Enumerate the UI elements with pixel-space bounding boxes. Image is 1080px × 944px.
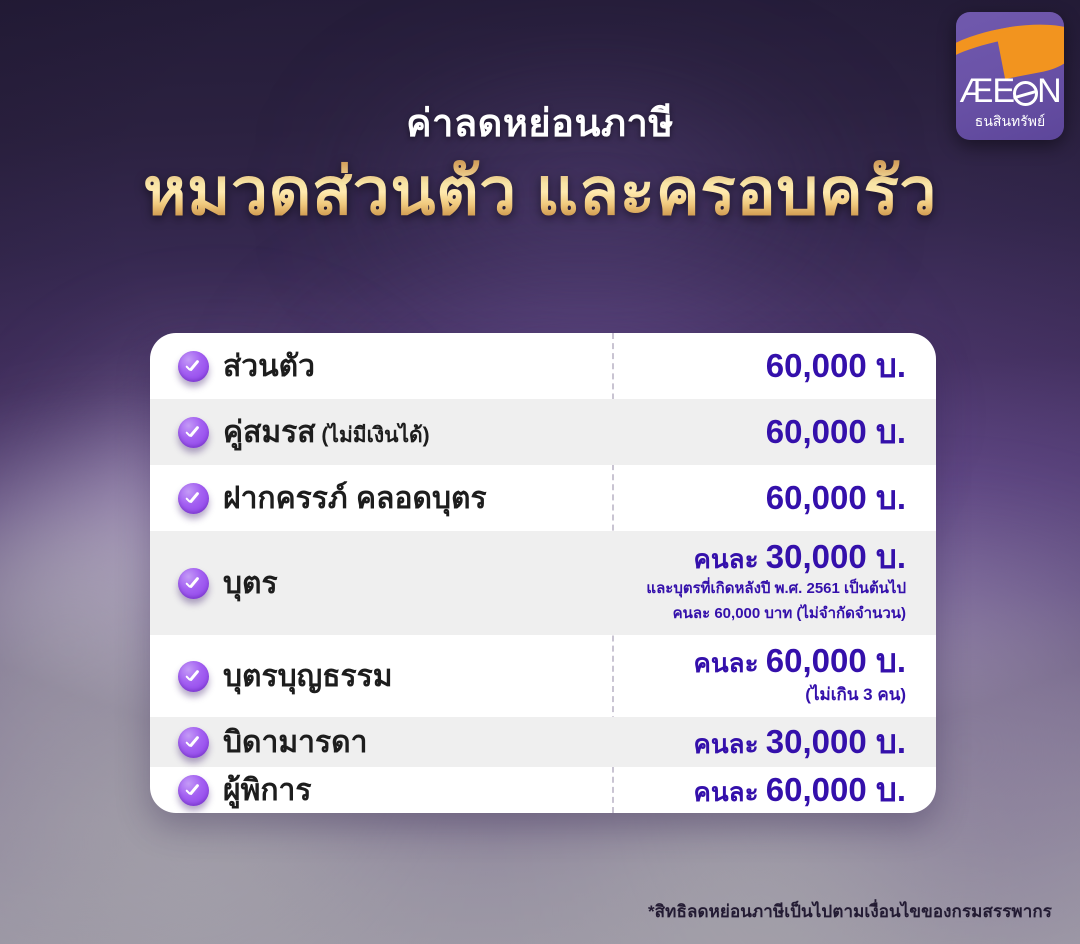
- row-amount-cell: คนละ 60,000 บ.: [612, 773, 936, 808]
- row-amount-prefix: คนละ: [693, 777, 765, 807]
- row-amount-prefix: คนละ: [693, 544, 765, 574]
- row-amount-value: 60,000 บ.: [766, 479, 906, 516]
- row-amount-cell: คนละ 30,000 บ.: [612, 725, 936, 760]
- table-row: บุตรคนละ 30,000 บ.และบุตรที่เกิดหลังปี พ…: [150, 531, 936, 635]
- table-row: บุตรบุญธรรมคนละ 60,000 บ.(ไม่เกิน 3 คน): [150, 635, 936, 717]
- check-circle-icon: [178, 483, 209, 514]
- page-title: หมวดส่วนตัว และครอบครัว: [0, 154, 1080, 230]
- check-circle-icon: [178, 417, 209, 448]
- table-row: ส่วนตัว60,000 บ.: [150, 333, 936, 399]
- row-amount-value: 60,000 บ.: [766, 347, 906, 384]
- footnote: *สิทธิลดหย่อนภาษีเป็นไปตามเงื่อนไขของกรม…: [648, 898, 1052, 925]
- row-amount-value: 30,000 บ.: [766, 538, 906, 575]
- table-row: บิดามารดาคนละ 30,000 บ.: [150, 717, 936, 767]
- row-amount-value: 60,000 บ.: [766, 642, 906, 679]
- row-label-cell: บิดามารดา: [150, 726, 612, 759]
- row-label-cell: ฝากครรภ์ คลอดบุตร: [150, 482, 612, 515]
- row-amount: คนละ 60,000 บ.: [612, 644, 906, 679]
- check-circle-icon: [178, 351, 209, 382]
- row-amount-cell: คนละ 30,000 บ.และบุตรที่เกิดหลังปี พ.ศ. …: [612, 540, 936, 626]
- row-amount: 60,000 บ.: [612, 481, 906, 516]
- row-label-cell: บุตรบุญธรรม: [150, 660, 612, 693]
- row-amount-prefix: คนละ: [693, 729, 765, 759]
- header: ค่าลดหย่อนภาษี หมวดส่วนตัว และครอบครัว: [0, 104, 1080, 230]
- row-label-cell: บุตร: [150, 567, 612, 600]
- table-row: ฝากครรภ์ คลอดบุตร60,000 บ.: [150, 465, 936, 531]
- row-label: บิดามารดา: [223, 726, 367, 759]
- row-amount-cell: 60,000 บ.: [612, 481, 936, 516]
- row-amount-value: 60,000 บ.: [766, 413, 906, 450]
- row-label-cell: คู่สมรส (ไม่มีเงินได้): [150, 416, 612, 449]
- row-amount-value: 30,000 บ.: [766, 723, 906, 760]
- row-label: คู่สมรส (ไม่มีเงินได้): [223, 416, 430, 449]
- row-amount-note: (ไม่เกิน 3 คน): [612, 681, 906, 708]
- check-circle-icon: [178, 568, 209, 599]
- row-amount: คนละ 30,000 บ.: [612, 725, 906, 760]
- row-amount-note: คนละ 60,000 บาท (ไม่จำกัดจำนวน): [612, 603, 906, 626]
- row-amount-prefix: คนละ: [693, 648, 765, 678]
- row-label-note: (ไม่มีเงินได้): [316, 424, 430, 447]
- aeon-wordmark: ÆEN: [956, 74, 1064, 108]
- row-label: ฝากครรภ์ คลอดบุตร: [223, 482, 487, 515]
- row-amount-note: และบุตรที่เกิดหลังปี พ.ศ. 2561 เป็นต้นไป: [612, 578, 906, 601]
- table-row: ผู้พิการคนละ 60,000 บ.: [150, 767, 936, 813]
- row-amount: คนละ 60,000 บ.: [612, 773, 906, 808]
- row-amount-cell: 60,000 บ.: [612, 349, 936, 384]
- table-row: คู่สมรส (ไม่มีเงินได้)60,000 บ.: [150, 399, 936, 465]
- row-label: ส่วนตัว: [223, 350, 315, 383]
- check-circle-icon: [178, 727, 209, 758]
- check-circle-icon: [178, 775, 209, 806]
- row-label: บุตรบุญธรรม: [223, 660, 393, 693]
- row-amount-value: 60,000 บ.: [766, 771, 906, 808]
- row-amount-cell: 60,000 บ.: [612, 415, 936, 450]
- row-amount: 60,000 บ.: [612, 349, 906, 384]
- page-eyebrow: ค่าลดหย่อนภาษี: [0, 104, 1080, 146]
- check-circle-icon: [178, 661, 209, 692]
- row-label: บุตร: [223, 567, 278, 600]
- row-amount: 60,000 บ.: [612, 415, 906, 450]
- row-amount-cell: คนละ 60,000 บ.(ไม่เกิน 3 คน): [612, 644, 936, 708]
- row-amount: คนละ 30,000 บ.: [612, 540, 906, 575]
- aeon-o-ring-icon: [1013, 81, 1038, 106]
- row-label: ผู้พิการ: [223, 774, 311, 807]
- row-label-cell: ส่วนตัว: [150, 350, 612, 383]
- deduction-table-card: ส่วนตัว60,000 บ.คู่สมรส (ไม่มีเงินได้)60…: [150, 333, 936, 813]
- row-label-cell: ผู้พิการ: [150, 774, 612, 807]
